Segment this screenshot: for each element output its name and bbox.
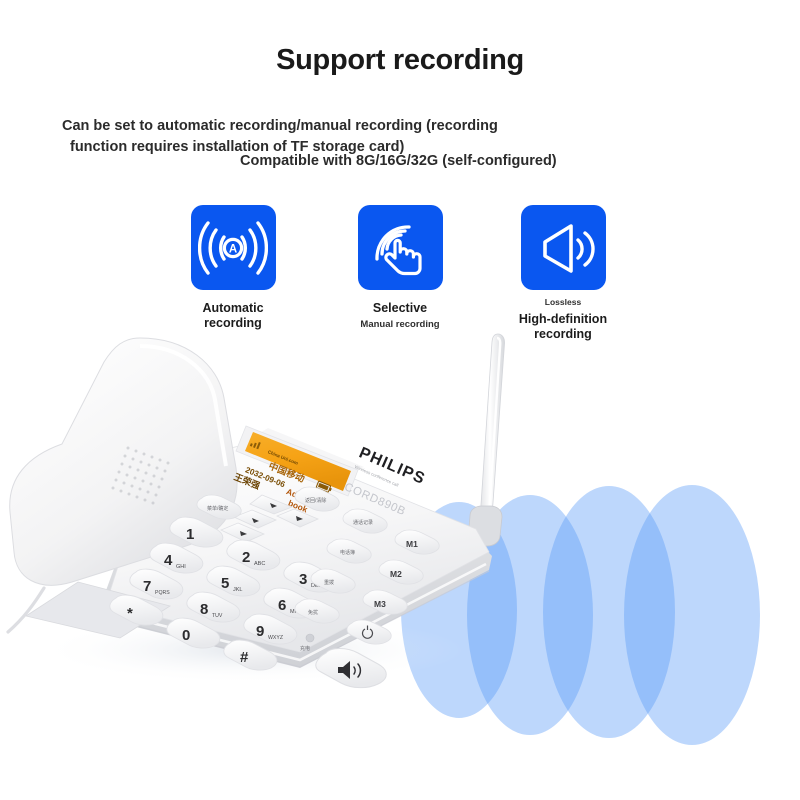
feature-automatic-recording: A Automatic recording: [148, 205, 318, 331]
key-7-letters: PQRS: [155, 590, 170, 596]
auto-record-waves-icon: A: [198, 215, 268, 281]
feature-caption-selective: Selective: [315, 301, 485, 316]
key-4-digit: 4: [164, 552, 173, 569]
key-7-digit: 7: [143, 578, 151, 595]
key-1-digit: 1: [186, 526, 194, 543]
key-star-digit: *: [127, 605, 133, 622]
charge-led: [306, 634, 314, 642]
side-key-redial-label: 电话簿: [340, 549, 355, 556]
feature-subcaption-hd: Lossless: [478, 297, 648, 308]
subtitle-primary: Can be set to automatic recording/manual…: [62, 116, 582, 158]
key-5-digit: 5: [221, 575, 229, 592]
memory-key-m2-label: M2: [390, 569, 402, 579]
key-2-digit: 2: [242, 549, 250, 566]
key-0-digit: 0: [182, 627, 190, 644]
key-9-digit: 9: [256, 623, 264, 640]
key-3-digit: 3: [299, 571, 307, 588]
memory-key-m1-label: M1: [406, 539, 418, 549]
side-key-mute-label: 重拨: [324, 579, 334, 586]
page-title: Support recording: [0, 44, 800, 77]
feature-tile-hd: [521, 205, 606, 290]
key-8-letters: TUV: [212, 613, 223, 619]
feature-tile-automatic: A: [191, 205, 276, 290]
feature-tile-selective: [358, 205, 443, 290]
subtitle-secondary: Compatible with 8G/16G/32G (self-configu…: [240, 153, 557, 169]
key-hash-digit: #: [240, 649, 249, 666]
softkey-right-label: 返回/清除: [305, 497, 326, 504]
phone-product-image: China Uni.com 中国移动 2032-09-06 王荣强 Addres…: [0, 320, 800, 790]
key-5-letters: JKL: [233, 587, 242, 593]
side-key-phonebook-label: 通话记录: [353, 519, 373, 526]
key-2-letters: ABC: [254, 561, 265, 567]
caption-line-1: Automatic: [202, 301, 263, 315]
charge-led-label: 充电: [300, 645, 310, 652]
hand-tap-waves-icon: [365, 213, 435, 283]
svg-text:A: A: [229, 243, 237, 255]
speaker-waves-icon: [528, 215, 598, 281]
memory-key-m3-label: M3: [374, 599, 386, 609]
key-4-letters: GHI: [176, 564, 186, 570]
softkey-left-label: 菜单/确定: [207, 505, 228, 512]
feature-selective-recording: Selective Manual recording: [315, 205, 485, 331]
subtitle-line-1: Can be set to automatic recording/manual…: [62, 118, 498, 134]
product-marketing-page: Support recording Can be set to automati…: [0, 0, 800, 800]
key-9-letters: WXYZ: [268, 635, 283, 641]
antenna-rod: [468, 334, 504, 546]
key-8-digit: 8: [200, 601, 208, 618]
key-6-digit: 6: [278, 597, 286, 614]
side-key-dnd-label: 免扰: [308, 609, 318, 616]
